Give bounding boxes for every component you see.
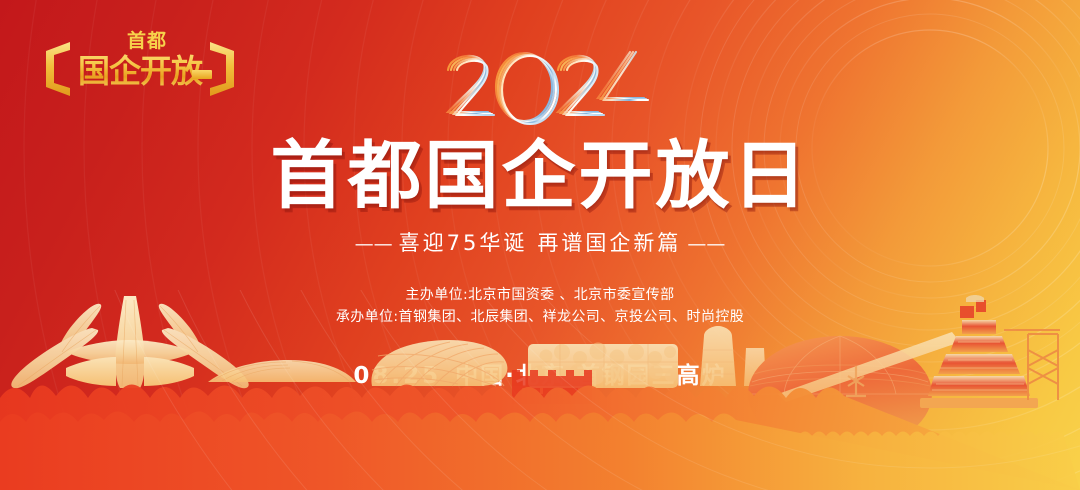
national-centre-performing-arts: [748, 336, 932, 452]
organizers-block: 主办单位:北京市国资委 、北京市委宣传部 承办单位:首钢集团、北辰集团、祥龙公司…: [0, 284, 1080, 328]
year-2024-graphic: [440, 44, 650, 136]
cloud-scallop-crest: [0, 432, 1080, 490]
event-date: 08.25: [353, 363, 441, 389]
subtitle-part-1: 喜迎75华诞: [399, 231, 528, 255]
event-date-venue: 08.25中国·北京·首钢园三高炉: [0, 360, 1080, 392]
logo-trailing-mark: [192, 70, 212, 79]
cloud-band-2: [0, 411, 1080, 490]
co-organizations: 承办单位:首钢集团、北辰集团、祥龙公司、京投公司、时尚控股: [0, 306, 1080, 328]
subtitle-dash-right: ——: [681, 233, 731, 255]
subtitle-dash-left: ——: [349, 233, 399, 255]
subtitle-part-2: 再谱国企新篇: [537, 231, 681, 255]
host-organizations: 主办单位:北京市国资委 、北京市委宣传部: [0, 284, 1080, 306]
event-location: 中国·北京·首钢园三高炉: [455, 363, 726, 389]
event-logo[interactable]: 首都 国企开放: [44, 30, 236, 96]
page-title: 首都国企开放日: [0, 135, 1080, 217]
subtitle: ——喜迎75华诞再谱国企新篇——: [0, 228, 1080, 259]
cloud-band-1: [0, 384, 1080, 490]
poster-canvas: 首都 国企开放: [0, 0, 1080, 490]
